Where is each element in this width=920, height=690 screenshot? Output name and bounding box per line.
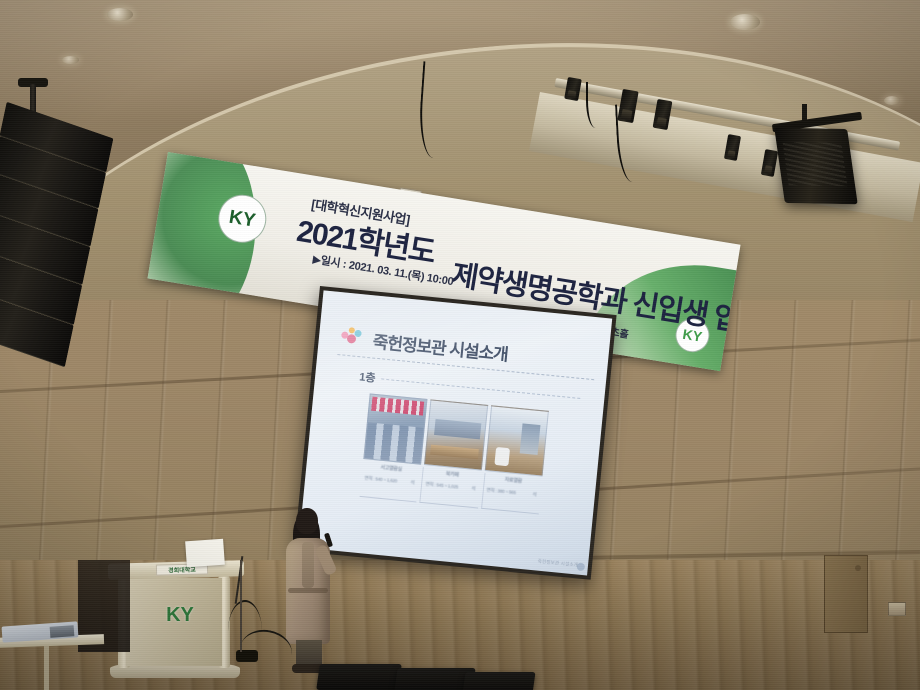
downlight-icon [107,8,133,21]
slide-photo [485,405,549,476]
wall-plate [888,602,906,616]
podium-logo: KY [160,598,200,632]
laptop-screen [50,625,75,638]
podium-paper [185,539,225,568]
table-leg [44,646,49,690]
stage-monitor [316,664,402,690]
slide-subtitle-rule [381,378,580,399]
caption-unit: 석 [532,492,537,498]
presenter-head [296,508,318,534]
caption-unit: 석 [410,480,415,486]
projection-screen: 죽헌정보관 시설소개 1층 서고열람실 면적 : 540 ~ 1,620 석 북… [298,290,612,575]
mic-stand [240,560,242,652]
caption-meta: 면적 : 545 ~ 1,025 [425,481,458,490]
ky-logo-text: KY [228,207,257,230]
side-door[interactable] [824,555,868,633]
caption-title: 북카페 [423,468,481,481]
caption-meta: 면적 : 540 ~ 1,620 [364,475,397,484]
slide-dots-icon [341,326,368,344]
stage-monitor [462,672,535,690]
slide-caption-cell: 북카페 면적 : 545 ~ 1,025 석 [420,467,482,509]
slide-caption-cell: 자료열람 면적 : 380 ~ 565 석 [481,473,543,515]
slide-photo [424,399,488,470]
slide-badge-icon [576,562,585,571]
slide-caption-cell: 서고열람실 면적 : 540 ~ 1,620 석 [360,461,421,502]
presenter-belt [288,588,328,593]
presenter-legs [296,640,322,666]
door-knob-icon[interactable] [855,565,861,571]
hanging-cable [586,82,602,128]
caption-title: 서고열람실 [362,462,420,475]
auditorium-photo: KY KY [대학혁신지원사업] 2021학년도 제약생명공학과 신입생 입학식… [0,0,920,690]
downlight-icon [62,56,79,64]
slide-photo [363,393,427,464]
speaker-grille [783,142,848,187]
slide-subtitle: 1층 [359,368,377,386]
slide-footer-text: 죽헌정보관 시설소개 [537,559,578,569]
projection-screen-frame: 죽헌정보관 시설소개 1층 서고열람실 면적 : 540 ~ 1,620 석 북… [294,286,617,580]
caption-unit: 석 [471,486,476,492]
caption-title: 자료열람 [484,474,542,487]
caption-meta: 면적 : 380 ~ 565 [486,487,516,496]
presenter-lapel [302,542,314,588]
